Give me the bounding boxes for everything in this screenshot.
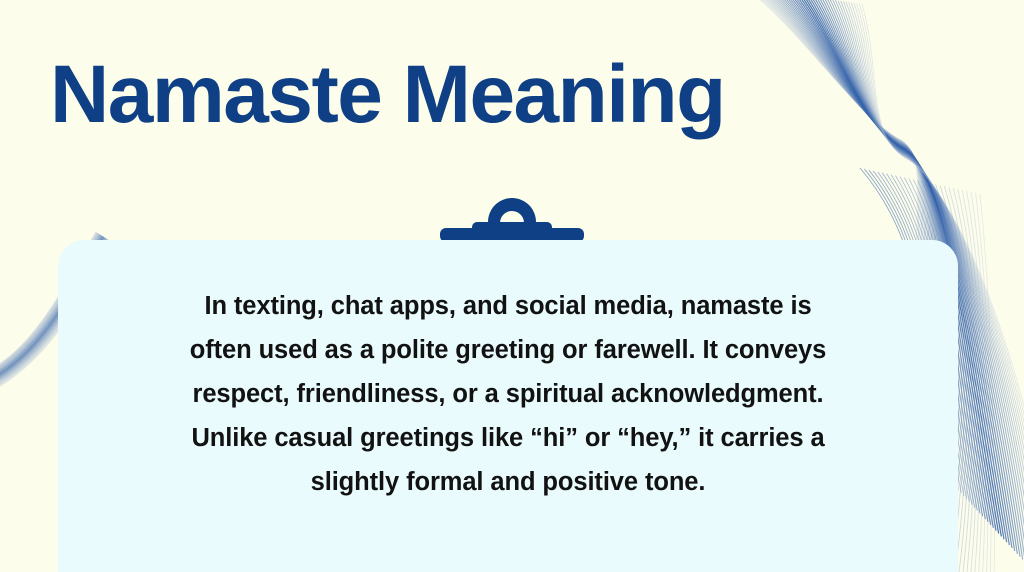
body-paragraph: In texting, chat apps, and social media,… bbox=[128, 284, 888, 504]
body-line: Unlike casual greetings like “hi” or “he… bbox=[128, 416, 888, 460]
slide-canvas: Namaste Meaning In texting, chat apps, a… bbox=[0, 0, 1024, 572]
page-title: Namaste Meaning bbox=[50, 47, 725, 143]
body-line: respect, friendliness, or a spiritual ac… bbox=[128, 372, 888, 416]
content-card: In texting, chat apps, and social media,… bbox=[58, 240, 958, 572]
briefcase-icon bbox=[0, 186, 1024, 246]
body-line: In texting, chat apps, and social media,… bbox=[128, 284, 888, 328]
body-line: often used as a polite greeting or farew… bbox=[128, 328, 888, 372]
body-line: slightly formal and positive tone. bbox=[128, 460, 888, 504]
